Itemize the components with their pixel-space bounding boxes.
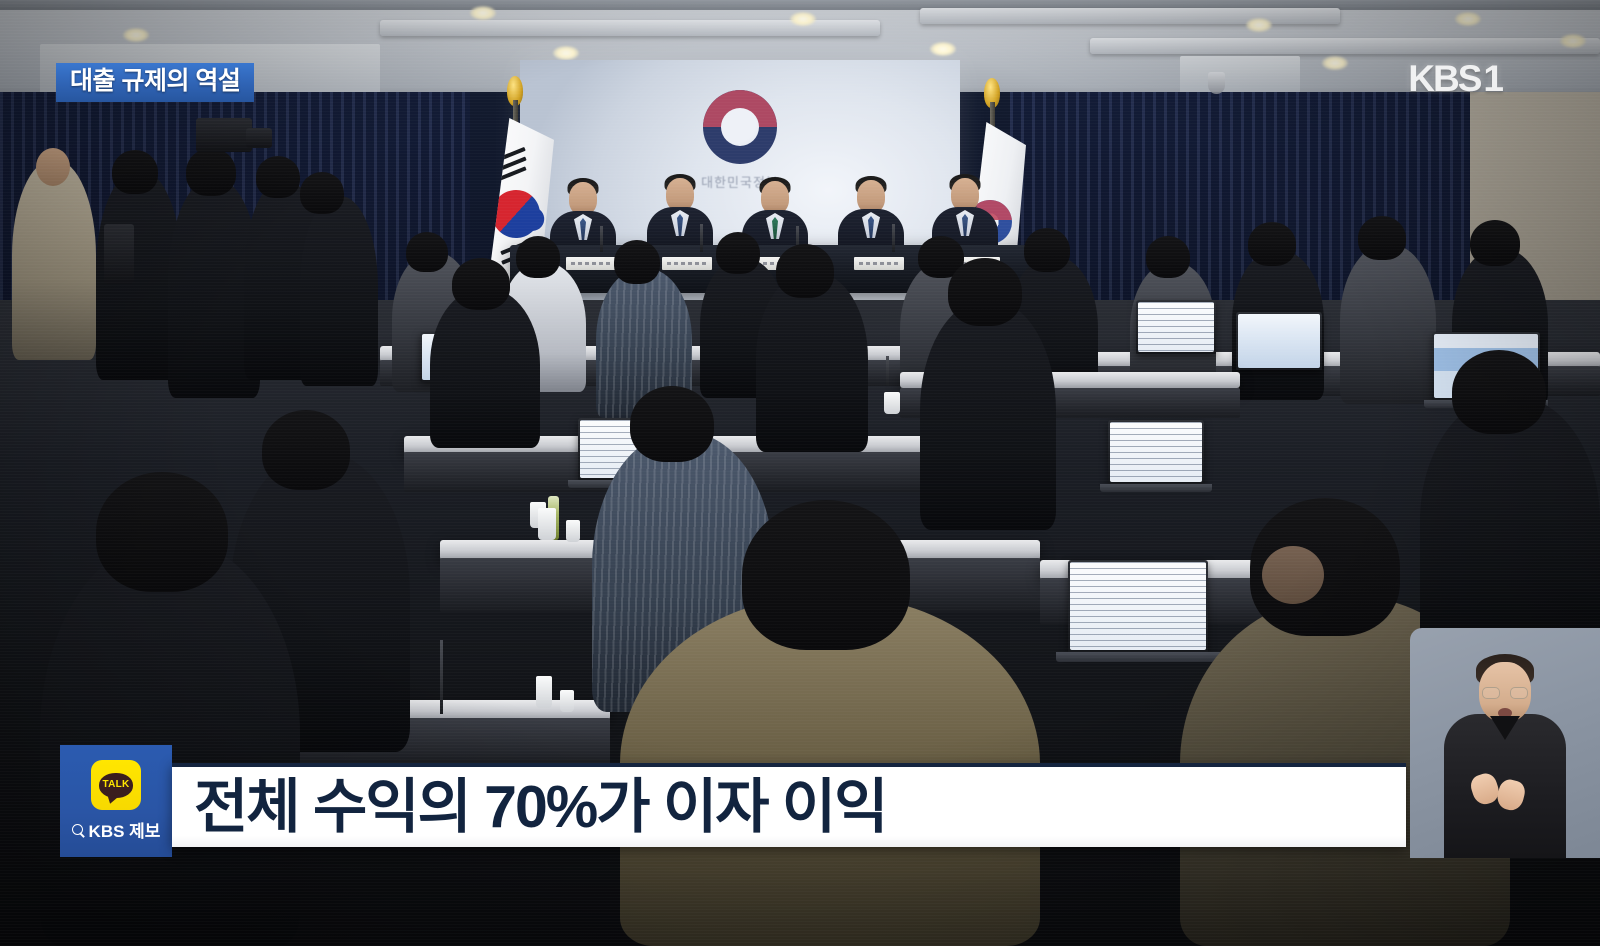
channel-watermark: KBS 1 <box>1408 60 1504 97</box>
ceiling-dome-camera <box>1208 72 1225 94</box>
korea-government-emblem-icon <box>703 90 777 164</box>
broadcast-frame: 대한민국정부 <box>0 0 1600 946</box>
channel-logo-text: KBS <box>1408 60 1480 97</box>
video-scene: 대한민국정부 <box>0 0 1600 946</box>
channel-number: 1 <box>1483 60 1504 97</box>
topic-banner: 대출 규제의 역설 <box>56 63 254 102</box>
